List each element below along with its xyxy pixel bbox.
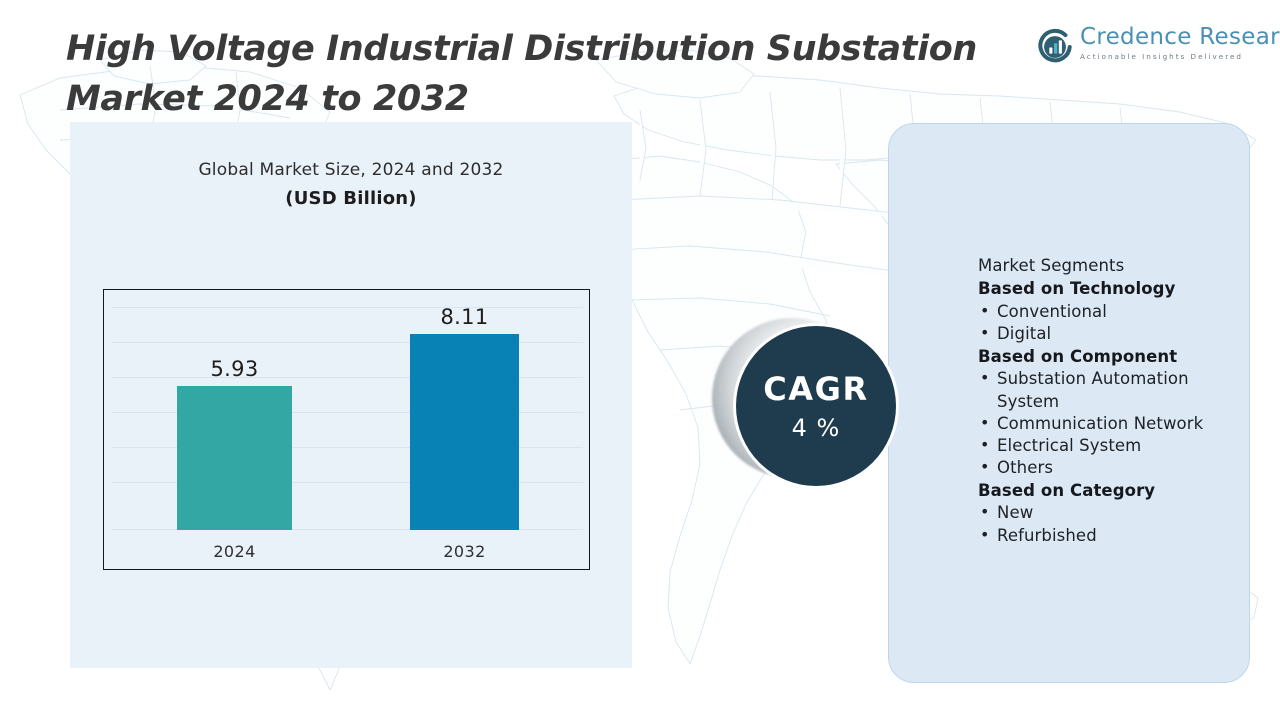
list-item: Communication Network: [978, 413, 1246, 435]
bar-2024[interactable]: [177, 386, 292, 530]
page-title: High Voltage Industrial Distribution Sub…: [66, 25, 1016, 124]
bar-chart: 5.93 8.11 2024 2032: [103, 289, 590, 570]
segment-group-title-category: Based on Category: [978, 479, 1246, 502]
bar-2032[interactable]: [410, 334, 519, 530]
chart-subtitle: (USD Billion): [70, 188, 632, 209]
bar-chart-circle-icon: [1036, 28, 1074, 66]
cagr-label: CAGR: [763, 373, 869, 405]
list-item: Conventional: [978, 301, 1246, 323]
segments-heading: Market Segments: [978, 254, 1246, 277]
list-item: Others: [978, 457, 1246, 479]
chart-plot-area: 5.93 8.11 2024 2032: [104, 290, 589, 569]
bar-value-2024: 5.93: [177, 357, 292, 381]
cagr-circle: CAGR 4 %: [736, 326, 896, 486]
cagr-value: 4 %: [792, 416, 841, 440]
segment-group-title-technology: Based on Technology: [978, 277, 1246, 300]
segment-group-title-component: Based on Component: [978, 345, 1246, 368]
cagr-badge: CAGR 4 %: [712, 318, 908, 496]
list-item: New: [978, 502, 1246, 524]
logo-tagline: Actionable Insights Delivered: [1080, 53, 1280, 62]
brand-logo[interactable]: Credence Research Actionable Insights De…: [1036, 24, 1252, 72]
category-label-2024: 2024: [177, 542, 292, 561]
list-item: Substation Automation System: [978, 368, 1246, 412]
logo-name: Credence Research: [1080, 24, 1280, 50]
list-item: Refurbished: [978, 525, 1246, 547]
chart-title: Global Market Size, 2024 and 2032: [70, 160, 632, 180]
list-item: Electrical System: [978, 435, 1246, 457]
category-label-2032: 2032: [410, 542, 519, 561]
infographic-canvas: High Voltage Industrial Distribution Sub…: [0, 0, 1280, 720]
segments-list: Market Segments Based on Technology Conv…: [978, 254, 1246, 547]
list-item: Digital: [978, 323, 1246, 345]
bar-value-2032: 8.11: [410, 305, 519, 329]
logo-text-block: Credence Research Actionable Insights De…: [1080, 24, 1280, 62]
